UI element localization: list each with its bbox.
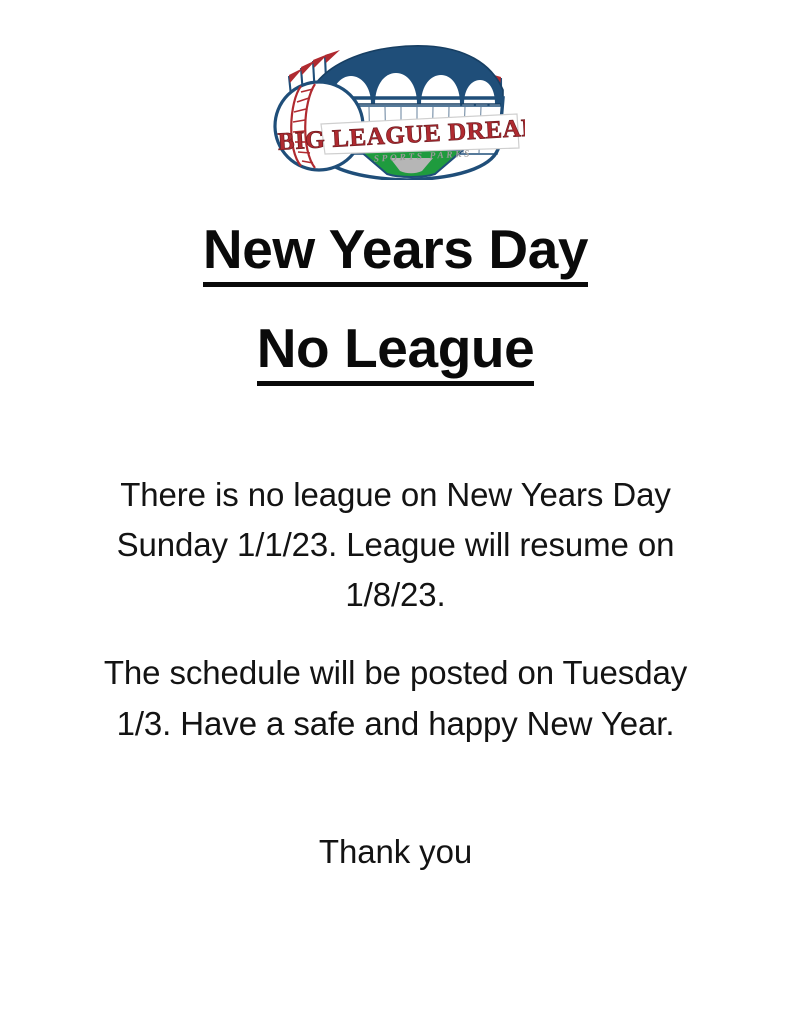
page-title-line-1: New Years Day (0, 222, 791, 287)
logo-container: BIG LEAGUE DREAMS SPORTS PARKS (0, 28, 791, 180)
paragraph-schedule-notice: The schedule will be posted on Tuesday 1… (86, 648, 706, 748)
paragraph-no-league-notice: There is no league on New Years Day Sund… (96, 470, 696, 620)
body-copy-block: There is no league on New Years Day Sund… (0, 470, 791, 876)
page-title-line-2-text: No League (257, 321, 535, 386)
page-title-line-2: No League (0, 321, 791, 386)
big-league-dreams-sports-parks-logo: BIG LEAGUE DREAMS SPORTS PARKS (267, 28, 525, 180)
headings-block: New Years Day No League (0, 222, 791, 386)
page-title-line-1-text: New Years Day (203, 222, 588, 287)
flyer-page: BIG LEAGUE DREAMS SPORTS PARKS New Years… (0, 0, 791, 1024)
closing-thank-you: Thank you (0, 827, 791, 877)
